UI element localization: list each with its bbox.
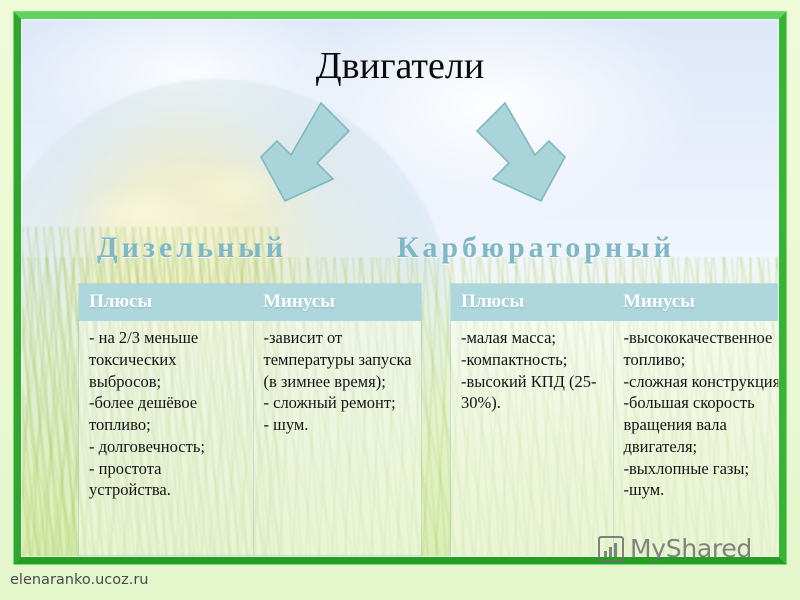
myshared-watermark-text: MyShared (630, 534, 752, 563)
cell-carburetor-pros: -малая масса; -компактность; -высокий КП… (451, 321, 613, 564)
column-header-pros: Плюсы (79, 284, 253, 321)
table-diesel: Плюсы Минусы - на 2/3 меньше токсических… (79, 284, 421, 556)
footer-url: elenaranko.ucoz.ru (10, 572, 149, 588)
cell-diesel-cons: -зависит от температуры запуска (в зимне… (253, 321, 421, 556)
column-header-cons: Минусы (253, 284, 421, 321)
cell-diesel-pros: - на 2/3 меньше токсических выбросов; -б… (79, 321, 253, 556)
table-row: - на 2/3 меньше токсических выбросов; -б… (79, 321, 421, 556)
bar-chart-icon (598, 536, 624, 562)
slide-title: Двигатели (21, 47, 779, 87)
slide-frame: Двигатели Дизельный Карбюраторный Плюсы … (14, 12, 786, 564)
arrow-down-left-icon (249, 101, 359, 206)
table-carburetor: Плюсы Минусы -малая масса; -компактность… (451, 284, 786, 564)
column-header-pros: Плюсы (451, 284, 613, 321)
slide-root: Двигатели Дизельный Карбюраторный Плюсы … (0, 0, 800, 600)
column-header-cons: Минусы (613, 284, 786, 321)
section-heading-diesel: Дизельный (97, 231, 287, 265)
arrow-down-right-icon (467, 101, 577, 206)
table-row: -малая масса; -компактность; -высокий КП… (451, 321, 786, 564)
cell-carburetor-cons: -высококачественное топливо; -сложная ко… (613, 321, 786, 564)
table-header-row: Плюсы Минусы (79, 284, 421, 321)
section-heading-carburetor: Карбюраторный (397, 231, 675, 265)
table-header-row: Плюсы Минусы (451, 284, 786, 321)
myshared-watermark: MyShared (598, 534, 752, 563)
